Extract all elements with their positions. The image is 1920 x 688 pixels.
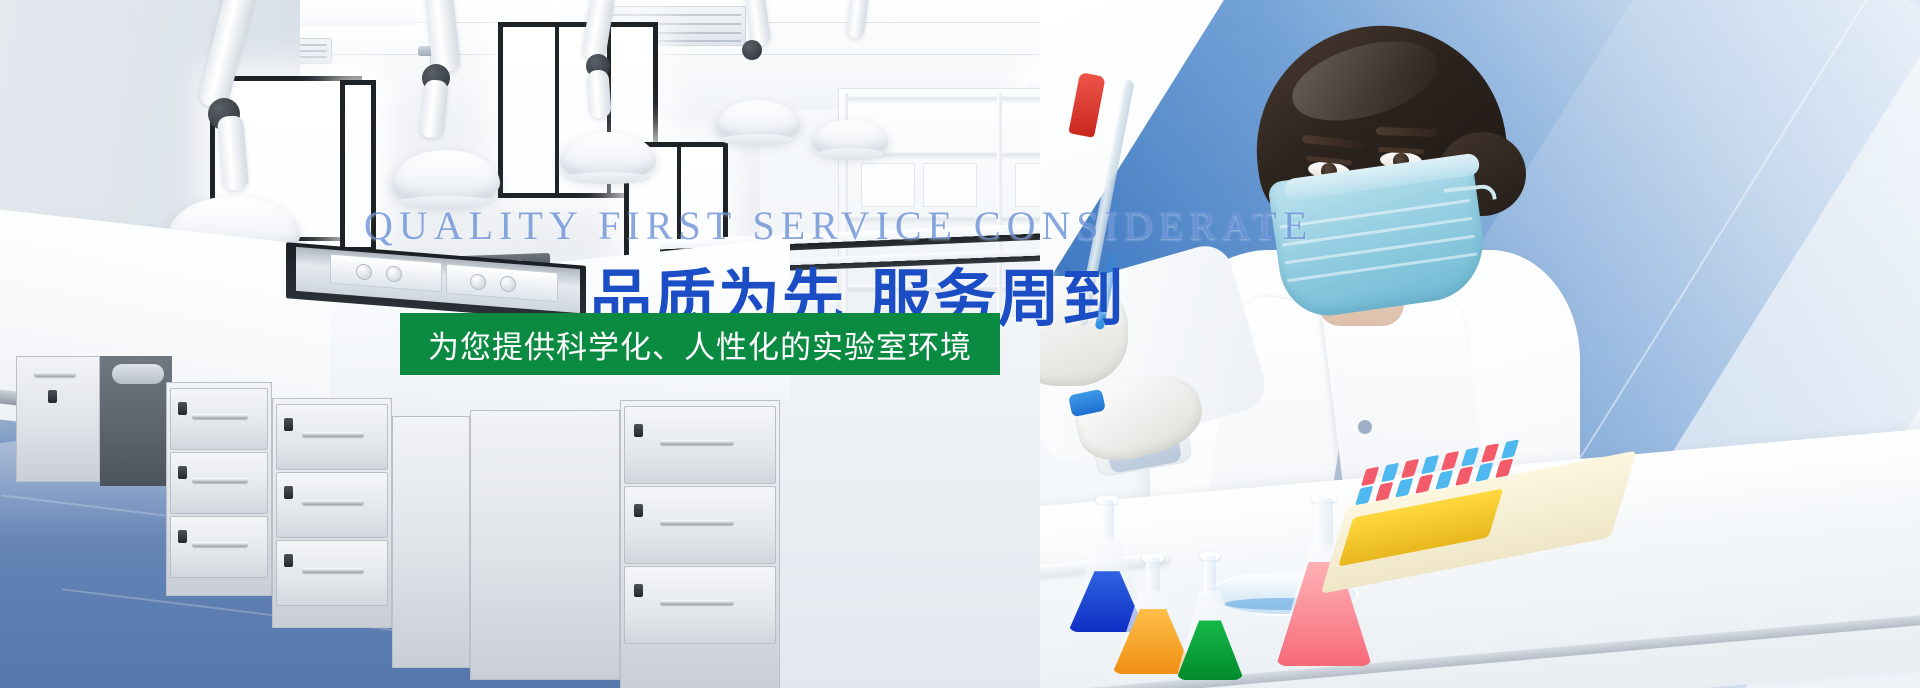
- service-knob[interactable]: [386, 265, 402, 282]
- drawer-lock: [634, 504, 643, 517]
- drawer-lock: [634, 584, 643, 597]
- drawer[interactable]: [624, 486, 776, 564]
- drawer-handle[interactable]: [302, 500, 364, 505]
- drawer[interactable]: [276, 472, 388, 538]
- drawer[interactable]: [170, 516, 268, 578]
- drawer-handle[interactable]: [660, 600, 734, 605]
- drawer-lock: [178, 402, 187, 415]
- service-knob[interactable]: [356, 263, 372, 280]
- drawer[interactable]: [170, 388, 268, 450]
- drawer[interactable]: [624, 406, 776, 484]
- drawer-lock: [178, 466, 187, 479]
- drawer-handle[interactable]: [660, 440, 734, 445]
- drawer-lock: [634, 424, 643, 437]
- headline-english: QUALITY FIRST SERVICE CONSIDERATE: [364, 202, 1313, 249]
- fume-extraction-arm: [726, 0, 826, 106]
- subtitle-text: 为您提供科学化、人性化的实验室环境: [428, 322, 972, 367]
- drawer-lock: [284, 486, 293, 499]
- service-knob[interactable]: [500, 275, 516, 292]
- drawer[interactable]: [624, 566, 776, 644]
- shirt-button: [1358, 420, 1372, 434]
- fume-extraction-arm: [398, 0, 518, 144]
- cabinet-lock: [48, 390, 57, 403]
- hero-banner: QUALITY FIRST SERVICE CONSIDERATE 品质为先 服…: [0, 0, 1920, 688]
- drawer-handle[interactable]: [660, 520, 734, 525]
- drawer-lock: [178, 530, 187, 543]
- subtitle-band: 为您提供科学化、人性化的实验室环境: [400, 313, 1000, 375]
- drawer-handle[interactable]: [192, 542, 248, 547]
- drawer[interactable]: [276, 404, 388, 470]
- fume-extraction-arm: [562, 0, 672, 130]
- drawer-handle[interactable]: [302, 568, 364, 573]
- waste-bin-lid: [112, 364, 164, 384]
- bench-extension: [780, 400, 1080, 688]
- fume-extraction-arm: [832, 0, 922, 96]
- drawer[interactable]: [170, 452, 268, 514]
- drawer-handle[interactable]: [192, 478, 248, 483]
- service-knob[interactable]: [470, 273, 486, 290]
- drawer-lock: [284, 554, 293, 567]
- drawer[interactable]: [276, 540, 388, 606]
- cabinet-door-panel: [392, 416, 470, 668]
- fume-extraction-arm: [190, 0, 310, 170]
- cabinet-handle[interactable]: [34, 372, 76, 377]
- drawer-lock: [284, 418, 293, 431]
- drawer-handle[interactable]: [192, 414, 248, 419]
- erlenmeyer-flask-green: [1176, 556, 1244, 680]
- drawer-handle[interactable]: [302, 432, 364, 437]
- technician-photo: [1040, 0, 1920, 688]
- base-cabinet-right: [470, 410, 620, 680]
- fume-hood-lamp: [812, 120, 888, 156]
